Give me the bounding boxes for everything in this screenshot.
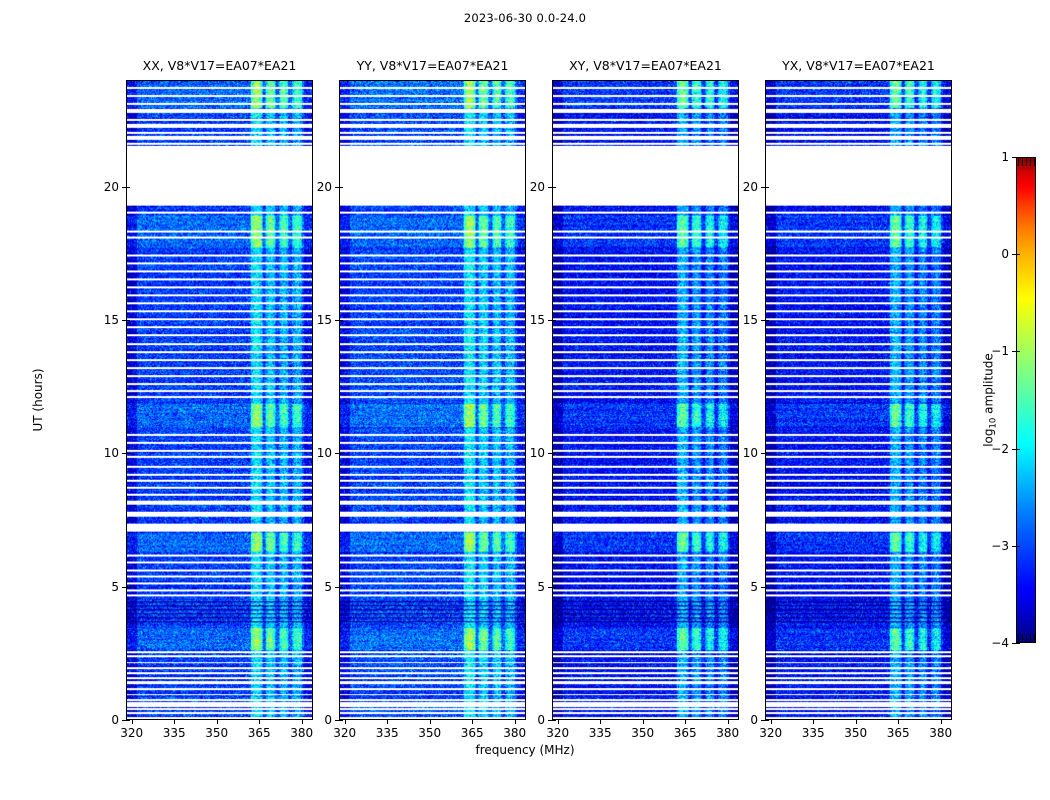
- colorbar-label-prefix: log: [981, 428, 995, 446]
- x-tick-label: 320: [759, 720, 782, 740]
- x-tick-label: 365: [461, 720, 484, 740]
- panel-xy[interactable]: XY, V8*V17=EA07*EA21 0510152032033535036…: [552, 80, 739, 720]
- colorbar-tick-mark-inner: [1016, 546, 1020, 547]
- axes-yy[interactable]: [339, 80, 526, 720]
- x-tick-label: 365: [887, 720, 910, 740]
- y-tick-label: 5: [324, 580, 339, 594]
- axes-xx[interactable]: [126, 80, 313, 720]
- y-tick-label: 20: [104, 180, 126, 194]
- y-tick-label: 20: [743, 180, 765, 194]
- colorbar-tick-label: −3: [991, 539, 1016, 553]
- panel-title-yx: YX, V8*V17=EA07*EA21: [725, 58, 992, 73]
- x-tick-label: 365: [674, 720, 697, 740]
- y-tick-label: 10: [317, 446, 339, 460]
- y-tick-mark-inner: [765, 587, 769, 588]
- x-tick-label: 380: [929, 720, 952, 740]
- x-tick-label: 350: [418, 720, 441, 740]
- spectrogram-image-xx: [127, 81, 312, 719]
- x-tick-label: 335: [163, 720, 186, 740]
- x-tick-label: 365: [248, 720, 271, 740]
- colorbar-extend-top: [1018, 159, 1036, 166]
- y-axis-label: UT (hours): [31, 368, 45, 431]
- axes-xy[interactable]: [552, 80, 739, 720]
- panel-xx[interactable]: XX, V8*V17=EA07*EA21 0510152032033535036…: [126, 80, 313, 720]
- colorbar: −4−3−2−101: [1016, 157, 1036, 643]
- colorbar-tick-label: 0: [1001, 247, 1016, 261]
- y-tick-mark-inner: [126, 587, 130, 588]
- colorbar-tick-mark-inner: [1016, 157, 1020, 158]
- colorbar-tick-label: 1: [1001, 150, 1016, 164]
- colorbar-extend-bottom: [1018, 634, 1036, 641]
- x-tick-label: 380: [716, 720, 739, 740]
- colorbar-tick-mark-inner: [1016, 351, 1020, 352]
- y-tick-label: 15: [104, 313, 126, 327]
- y-tick-label: 10: [530, 446, 552, 460]
- axes-yx[interactable]: [765, 80, 952, 720]
- colorbar-tick-mark-inner: [1016, 254, 1020, 255]
- y-tick-label: 15: [530, 313, 552, 327]
- x-tick-label: 350: [205, 720, 228, 740]
- y-tick-mark-inner: [126, 187, 130, 188]
- colorbar-tick-label: −4: [991, 636, 1016, 650]
- y-tick-mark-inner: [552, 453, 556, 454]
- y-tick-label: 5: [537, 580, 552, 594]
- y-tick-mark-inner: [339, 453, 343, 454]
- y-tick-mark-inner: [765, 453, 769, 454]
- y-tick-label: 10: [743, 446, 765, 460]
- x-tick-label: 380: [290, 720, 313, 740]
- y-tick-mark-inner: [552, 320, 556, 321]
- x-tick-label: 335: [589, 720, 612, 740]
- panel-yx[interactable]: YX, V8*V17=EA07*EA21 0510152032033535036…: [765, 80, 952, 720]
- colorbar-tick-mark-inner: [1016, 449, 1020, 450]
- x-tick-label: 335: [376, 720, 399, 740]
- colorbar-gradient: [1016, 157, 1036, 643]
- x-tick-label: 335: [802, 720, 825, 740]
- y-tick-label: 20: [317, 180, 339, 194]
- colorbar-label-suffix: amplitude: [981, 353, 995, 417]
- x-tick-label: 380: [503, 720, 526, 740]
- y-tick-mark-inner: [339, 320, 343, 321]
- y-tick-mark-inner: [765, 320, 769, 321]
- y-tick-mark-inner: [552, 187, 556, 188]
- y-tick-label: 5: [111, 580, 126, 594]
- x-tick-label: 320: [333, 720, 356, 740]
- y-tick-mark-inner: [126, 320, 130, 321]
- y-tick-mark-inner: [765, 187, 769, 188]
- colorbar-tick-mark-inner: [1016, 643, 1020, 644]
- x-tick-label: 320: [120, 720, 143, 740]
- x-tick-label: 350: [631, 720, 654, 740]
- spectrogram-image-xy: [553, 81, 738, 719]
- y-tick-mark-inner: [552, 587, 556, 588]
- y-tick-label: 15: [317, 313, 339, 327]
- colorbar-label: log10 amplitude: [981, 353, 998, 447]
- x-tick-label: 350: [844, 720, 867, 740]
- y-tick-mark-inner: [126, 453, 130, 454]
- y-tick-label: 5: [750, 580, 765, 594]
- y-tick-mark-inner: [339, 187, 343, 188]
- colorbar-label-sub: 10: [989, 418, 999, 429]
- y-tick-mark-inner: [339, 587, 343, 588]
- y-tick-label: 15: [743, 313, 765, 327]
- x-axis-label: frequency (MHz): [0, 743, 1050, 757]
- y-tick-label: 10: [104, 446, 126, 460]
- spectrogram-image-yy: [340, 81, 525, 719]
- figure-suptitle: 2023-06-30 0.0-24.0: [0, 11, 1050, 25]
- panel-yy[interactable]: YY, V8*V17=EA07*EA21 0510152032033535036…: [339, 80, 526, 720]
- spectrogram-image-yx: [766, 81, 951, 719]
- x-tick-label: 320: [546, 720, 569, 740]
- figure-canvas: 2023-06-30 0.0-24.0 UT (hours) frequency…: [0, 0, 1050, 800]
- y-tick-label: 20: [530, 180, 552, 194]
